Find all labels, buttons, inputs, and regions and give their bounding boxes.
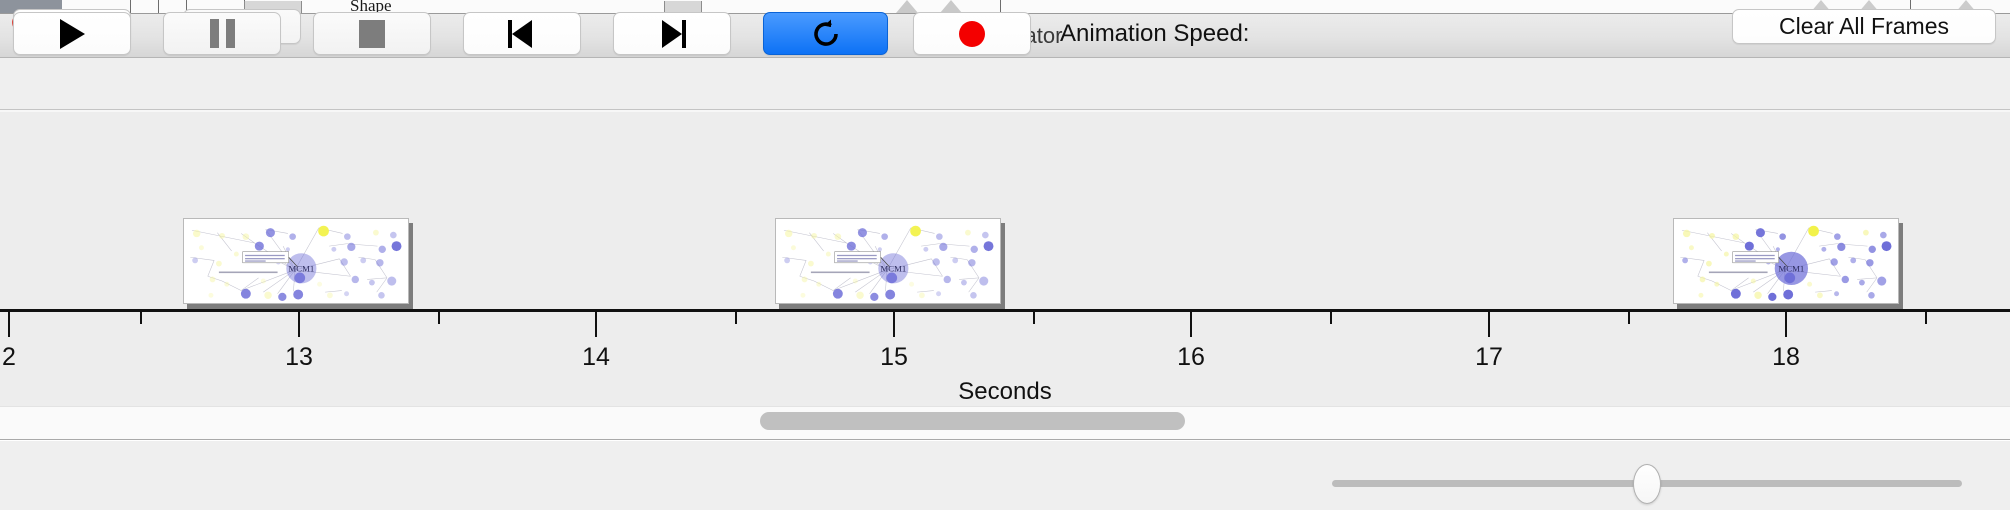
graph-node [340,258,347,265]
graph-node [1877,276,1886,285]
loop-icon [809,17,843,51]
graph-node [344,233,351,240]
clear-all-frames-label: Clear All Frames [1779,13,1949,40]
pause-icon [210,19,235,48]
graph-node [979,276,988,285]
graph-node [1830,258,1837,265]
play-button[interactable] [13,12,131,55]
ruler-tick [298,311,300,337]
graph-node [241,289,251,299]
graph-node [1689,245,1694,250]
cyanimator-window: Shape CyAnimator Clear All Frames MCM1MC… [0,0,2010,510]
graph-node [1821,247,1826,252]
graph-node [1731,289,1741,299]
record-icon [959,21,985,47]
graph-node [294,272,305,283]
timeline-ruler-baseline [0,309,2010,312]
stop-icon [359,20,385,48]
graph-node [286,247,290,251]
graph-node [886,272,897,283]
clear-all-frames-button[interactable]: Clear All Frames [1732,9,1996,44]
graph-node [1768,293,1776,301]
timeline-axis-title: Seconds [0,378,2010,406]
graph-node [192,258,198,264]
stop-button[interactable] [313,12,431,55]
graph-node [1850,258,1856,264]
graph-node [1709,233,1715,239]
skip-to-end-button[interactable] [613,12,731,55]
graph-node [1714,282,1719,287]
graph-node [923,247,928,252]
hub-node-label: MCM1 [289,264,315,274]
graph-node [965,230,971,236]
graph-node [1784,272,1795,283]
ruler-tick [595,311,597,337]
ruler-tick [1033,311,1035,324]
graph-node [826,252,831,257]
ruler-tick [438,311,440,324]
graph-node [347,243,355,251]
graph-node [1880,232,1887,239]
graph-node [219,233,225,239]
pause-button[interactable] [163,12,281,55]
graph-node [936,291,941,296]
hub-node-label: MCM1 [881,264,907,274]
ruler-tick [8,311,10,337]
graph-node [266,228,275,237]
graph-node [785,230,792,237]
record-button[interactable] [913,12,1031,55]
graph-node [376,259,383,266]
graph-node [881,233,888,240]
graph-node [369,280,375,286]
playback-toolbar [0,441,2010,510]
graph-node [816,282,821,287]
skip-to-start-button[interactable] [463,12,581,55]
ruler-tick [1488,311,1490,337]
timeline-frame-thumbnail[interactable]: MCM1 [183,218,409,304]
graph-node [984,241,994,251]
graph-node [939,243,947,251]
graph-node [791,245,796,250]
graph-node [1834,291,1839,296]
graph-node [193,230,200,237]
frame-network-graph: MCM1 [776,219,1001,304]
frame-canvas: MCM1 [775,218,1001,304]
graph-node [932,258,939,265]
graph-node [210,277,216,283]
bg-divider [158,0,159,14]
ruler-tick-label: 17 [1448,343,1530,372]
graph-node [243,233,250,240]
frame-canvas: MCM1 [1673,218,1899,304]
timeline-frame-thumbnail[interactable]: MCM1 [775,218,1001,304]
ruler-tick [735,311,737,324]
graph-node [208,293,213,298]
graph-node [1754,292,1761,299]
graph-node [1834,233,1841,240]
graph-node [378,292,385,299]
graph-node [961,280,967,286]
graph-node [1783,290,1793,300]
loop-button[interactable] [763,12,888,55]
graph-node [1859,280,1865,286]
graph-node [1868,292,1875,299]
graph-node [344,291,349,296]
graph-node [853,279,858,284]
graph-node [234,252,239,257]
graph-node [1683,230,1690,237]
hub-node-label: MCM1 [1779,264,1805,274]
graph-node [1700,277,1706,283]
graph-node [910,226,921,237]
timeline-scroll-thumb[interactable] [760,412,1185,430]
graph-node [808,261,814,267]
graph-node [379,246,386,253]
graph-node [264,292,271,299]
graph-node [1751,279,1756,284]
graph-node [982,232,989,239]
graph-node [199,245,204,250]
graph-node [847,242,856,251]
graph-node [216,261,222,267]
graph-node [289,233,296,240]
graph-node [360,258,366,264]
graph-node [833,289,843,299]
graph-node [952,258,958,264]
graph-node [909,282,914,287]
graph-node [835,233,842,240]
graph-node [387,276,396,285]
ruler-tick-label: 14 [555,343,637,372]
graph-node [1682,258,1688,264]
graph-node [856,292,863,299]
ruler-tick-label: 18 [1745,343,1827,372]
graph-node [1882,241,1892,251]
animation-speed-label: Animation Speed: [1060,12,1249,55]
skip-back-icon [508,20,536,48]
ruler-tick [1628,311,1630,324]
graph-node [1733,233,1740,240]
graph-node [1776,247,1780,251]
timeline-frame-thumbnail[interactable]: MCM1 [1673,218,1899,304]
graph-node [327,292,333,298]
graph-node [392,241,402,251]
graph-node [970,292,977,299]
graph-node [1698,293,1703,298]
graph-node [255,242,264,251]
graph-node [317,282,322,287]
skip-forward-icon [658,20,686,48]
graph-node [878,247,882,251]
animation-speed-slider-thumb[interactable] [1633,464,1661,504]
ruler-tick-label: 15 [853,343,935,372]
frame-network-graph: MCM1 [184,219,409,304]
graph-node [390,232,397,239]
graph-node [802,277,808,283]
graph-node [1724,252,1729,257]
ruler-tick-label: 13 [258,343,340,372]
graph-node [811,233,817,239]
graph-node [1808,226,1819,237]
ruler-tick [1330,311,1332,324]
ruler-tick [140,311,142,324]
ruler-tick [1190,311,1192,337]
graph-node [1817,292,1823,298]
ruler-tick [1785,311,1787,337]
ruler-tick [893,311,895,337]
graph-node [1779,233,1786,240]
frame-toolbar [0,58,2010,110]
bg-shape [896,0,918,13]
graph-node [800,293,805,298]
graph-node [1842,276,1849,283]
graph-node [971,246,978,253]
graph-node [1745,242,1754,251]
graph-node [261,279,266,284]
graph-node [1869,246,1876,253]
graph-node [968,259,975,266]
play-icon [60,19,85,49]
graph-node [331,247,336,252]
graph-node [1706,261,1712,267]
graph-node [1866,259,1873,266]
graph-node [318,226,329,237]
graph-node [870,293,878,301]
graph-node [373,230,379,236]
graph-node [1756,228,1765,237]
ruler-tick-label: 2 [0,343,50,372]
graph-node [1837,243,1845,251]
graph-node [919,292,925,298]
frame-canvas: MCM1 [183,218,409,304]
frame-network-graph: MCM1 [1674,219,1899,304]
graph-node [293,290,303,300]
graph-node [352,276,359,283]
graph-node [224,282,229,287]
graph-node [278,293,286,301]
ruler-tick-label: 16 [1150,343,1232,372]
graph-node [858,228,867,237]
ruler-tick [1925,311,1927,324]
graph-node [944,276,951,283]
timeline-top-edge [0,110,2010,112]
graph-node [784,258,790,264]
graph-node [1807,282,1812,287]
graph-node [885,290,895,300]
graph-node [1863,230,1869,236]
graph-node [936,233,943,240]
